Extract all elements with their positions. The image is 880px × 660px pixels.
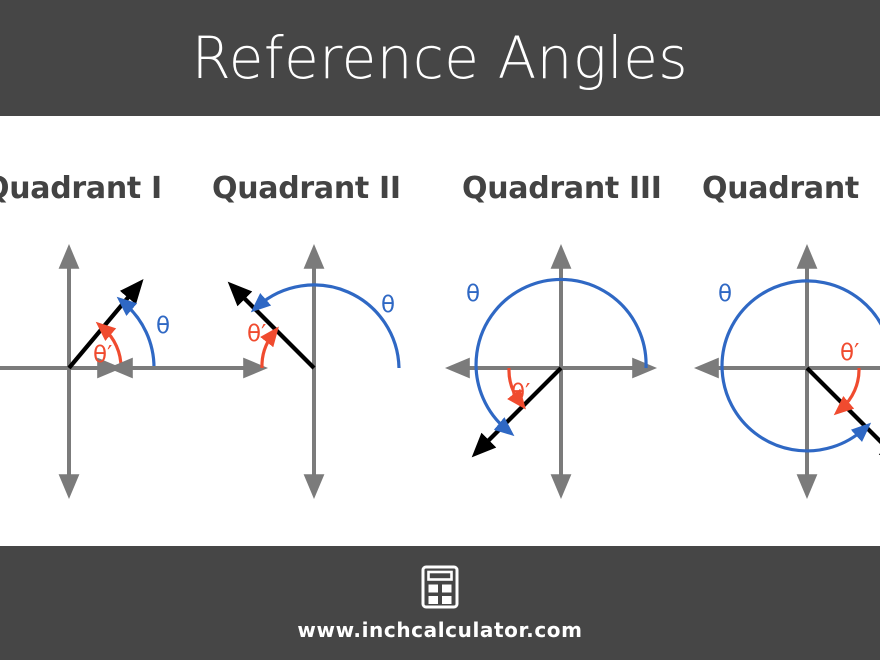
theta-label-1: θ	[156, 313, 170, 339]
theta-label-2: θ	[381, 292, 395, 318]
reference-label-3: θ′	[511, 380, 530, 406]
quadrant-diagram-svg: θ θ′ θ θ′	[0, 116, 880, 546]
diagram-quadrant-1: θ θ′	[0, 256, 170, 487]
theta-label-3: θ	[466, 281, 480, 307]
theta-arc-1	[124, 303, 154, 368]
diagram-quadrant-2: θ θ′	[120, 256, 399, 487]
page-title: Reference Angles	[192, 29, 688, 87]
theta-label-4: θ	[718, 281, 732, 307]
reference-label-4: θ′	[840, 340, 859, 366]
infographic-canvas: Reference Angles Quadrant I Quadrant II …	[0, 0, 880, 660]
reference-label-2: θ′	[247, 321, 266, 347]
theta-arc-2	[258, 285, 399, 368]
diagram-board: Quadrant I Quadrant II Quadrant III Quad…	[0, 116, 880, 546]
quadrant-diagrams: θ θ′ θ θ′	[0, 116, 880, 546]
calculator-icon	[421, 565, 459, 609]
header-band: Reference Angles	[0, 0, 880, 116]
reference-label-1: θ′	[93, 342, 112, 368]
diagram-quadrant-4: θ θ′	[706, 256, 880, 487]
site-url: www.inchcalculator.com	[297, 618, 582, 642]
diagram-quadrant-3: θ θ′	[457, 256, 646, 487]
footer-band: www.inchcalculator.com	[0, 546, 880, 660]
